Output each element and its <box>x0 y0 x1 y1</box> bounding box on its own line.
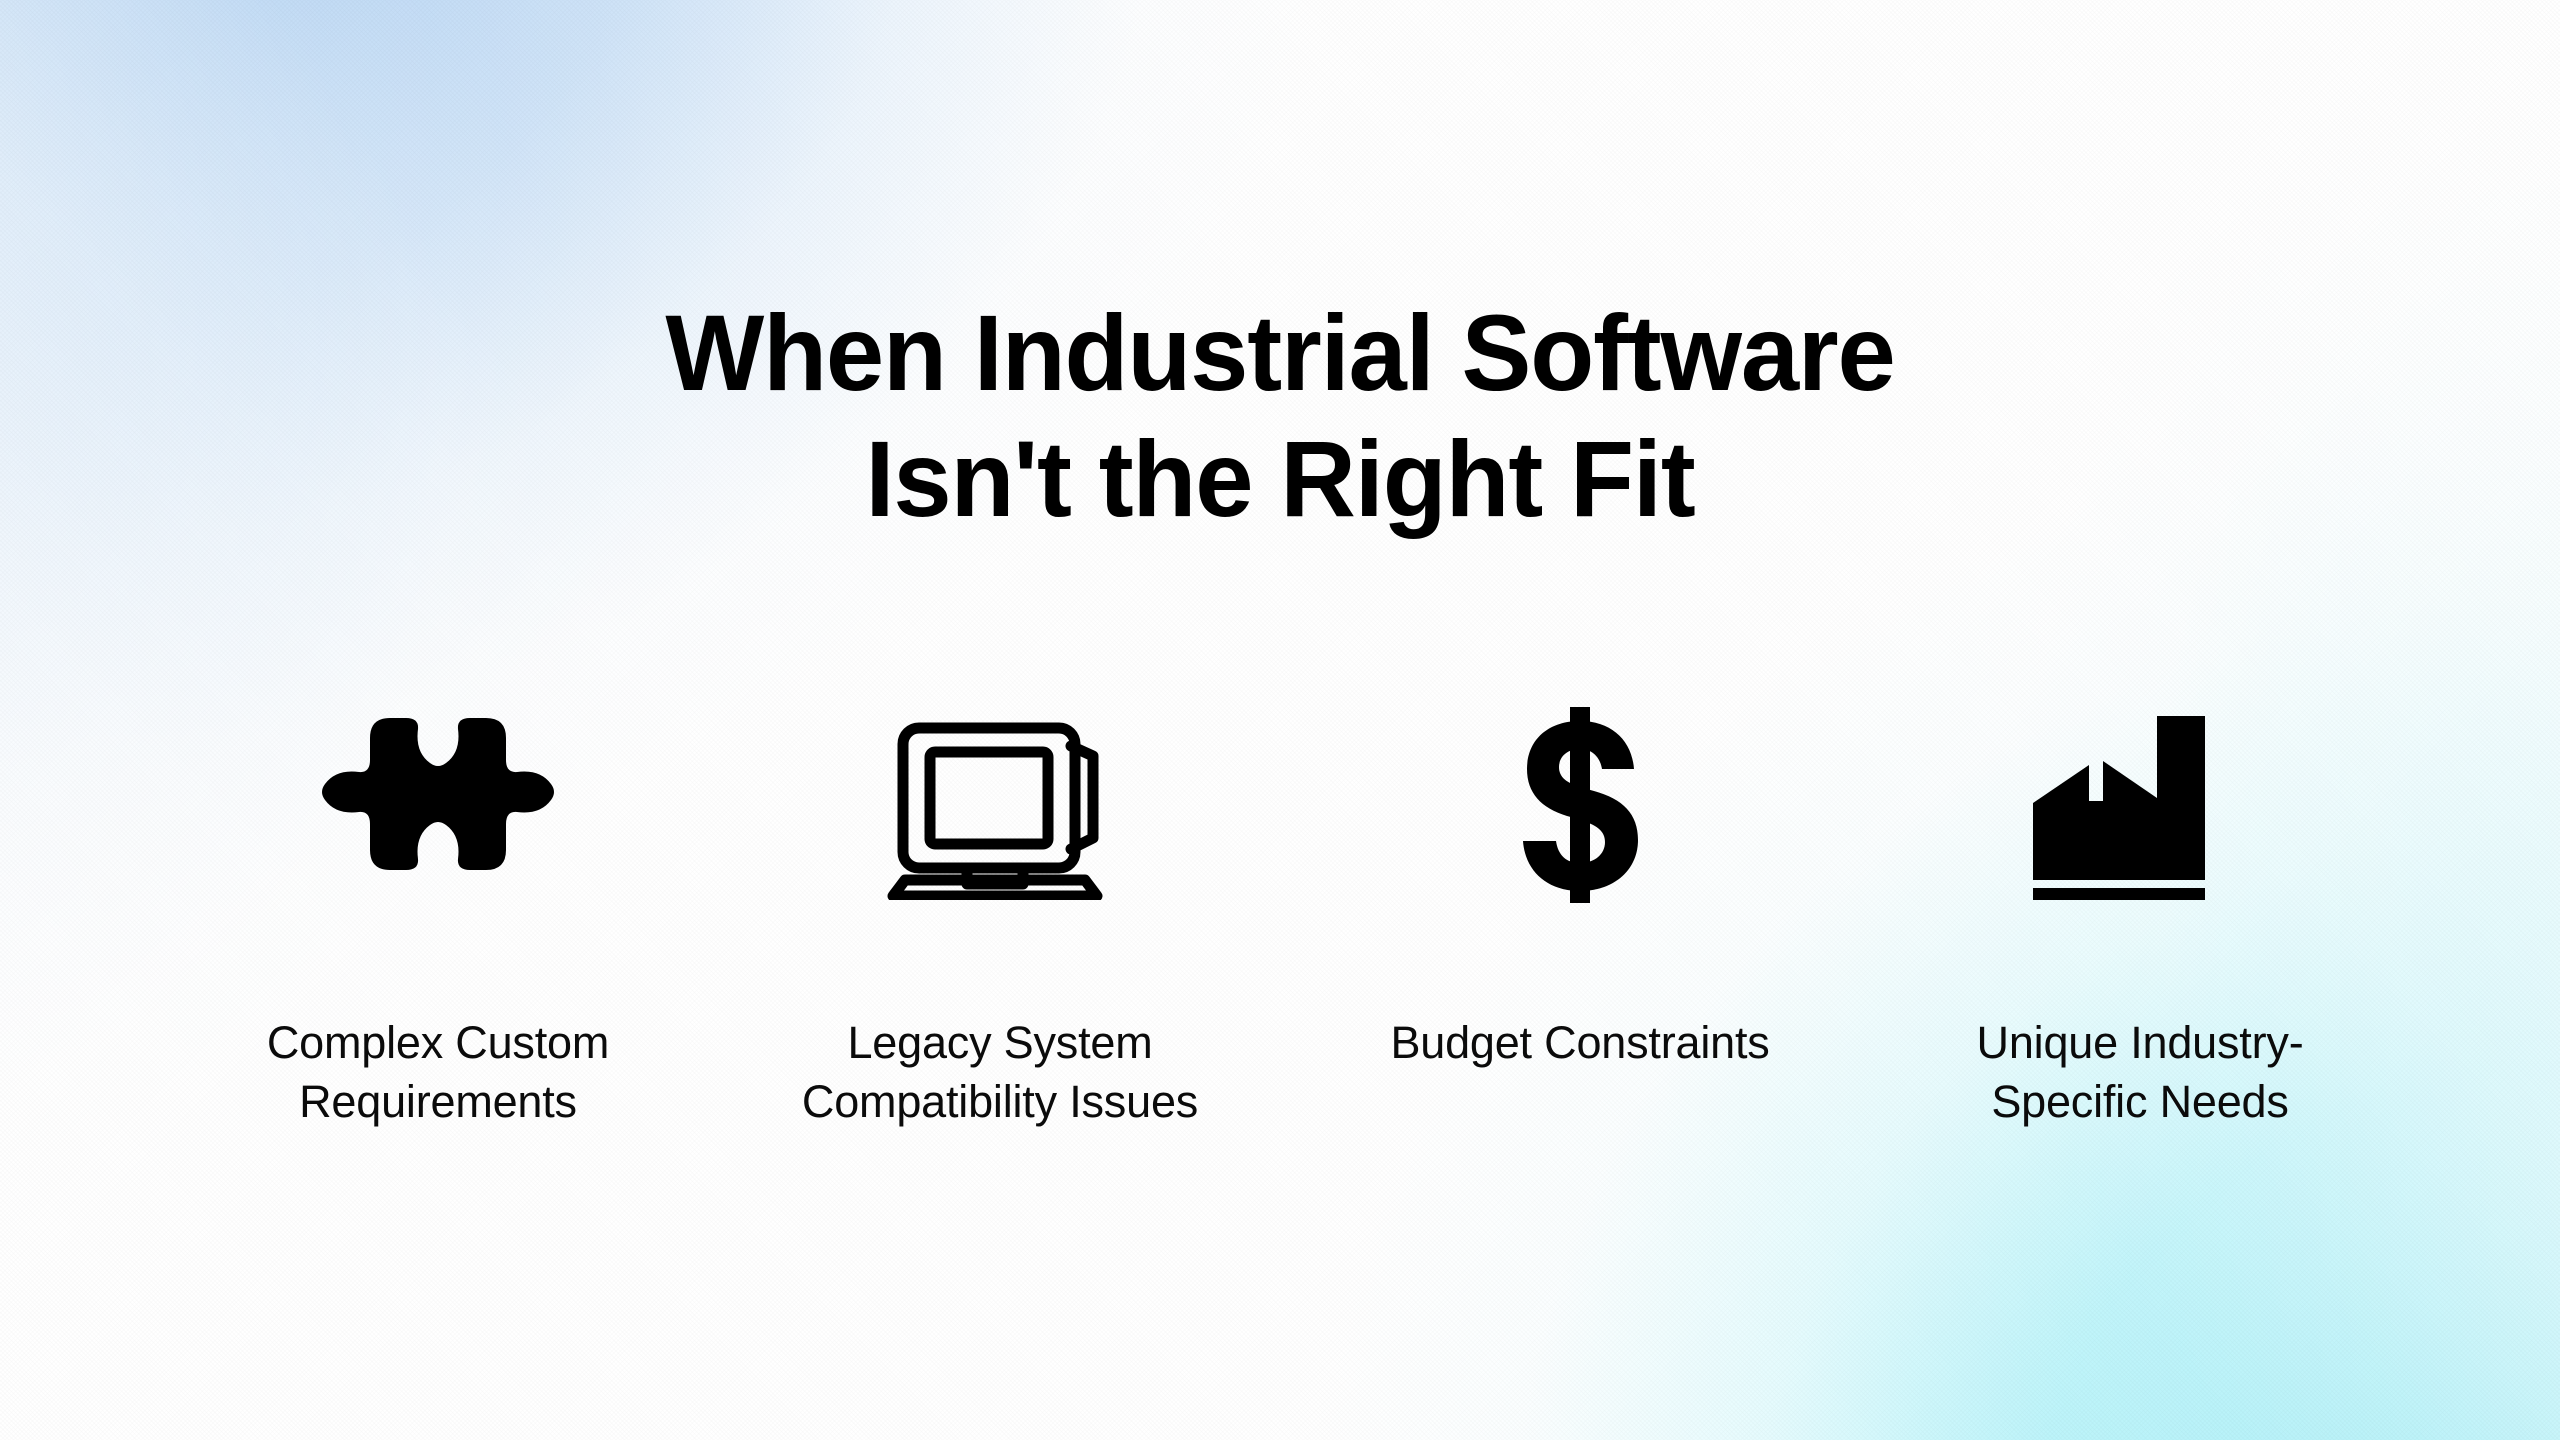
slide-canvas: When Industrial Software Isn't the Right… <box>0 0 2560 1440</box>
page-title: When Industrial Software Isn't the Right… <box>38 290 2521 541</box>
reason-tile-legacy-system-compatibility: Legacy System Compatibility Issues <box>720 700 1280 1131</box>
reason-tile-label: Unique Industry- Specific Needs <box>1977 1014 2304 1131</box>
reason-tile-unique-industry-needs: Unique Industry- Specific Needs <box>1860 700 2420 1131</box>
reason-tile-label: Complex Custom Requirements <box>267 1014 609 1131</box>
reason-tile-budget-constraints: Budget Constraints <box>1300 700 1860 1073</box>
reason-tile-label: Budget Constraints <box>1390 1014 1769 1073</box>
reason-tile-row: Complex Custom Requirements <box>0 700 2560 1220</box>
slide-content: When Industrial Software Isn't the Right… <box>0 0 2560 1440</box>
factory-icon <box>2033 700 2247 910</box>
reason-tile-complex-custom-requirements: Complex Custom Requirements <box>158 700 718 1131</box>
crt-monitor-icon <box>875 700 1125 910</box>
puzzle-piece-icon <box>322 700 554 910</box>
dollar-sign-icon <box>1520 700 1640 910</box>
reason-tile-label: Legacy System Compatibility Issues <box>802 1014 1198 1131</box>
